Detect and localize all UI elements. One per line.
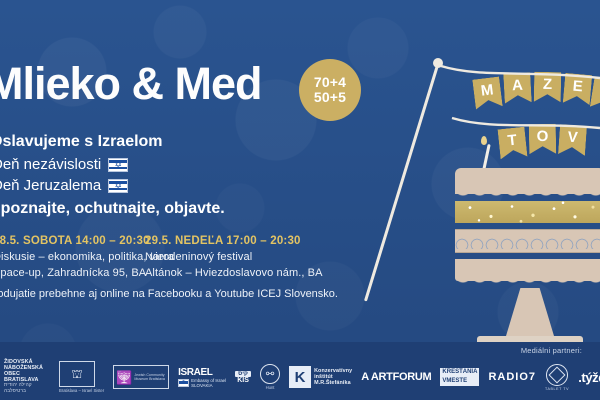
cake-tier-middle xyxy=(455,229,600,253)
cake-glitter-layer xyxy=(455,201,600,223)
online-stream-note: Podujatie prebehne aj online na Facebook… xyxy=(0,288,338,300)
cake-tier-bottom xyxy=(455,259,600,281)
event-description: Narodeninový festival xyxy=(145,251,323,263)
logo-tyzden: .týždeň xyxy=(578,370,600,385)
candle-flame-icon xyxy=(481,136,487,145)
badge-line-2: 50+5 xyxy=(314,90,346,105)
cake-tier-top xyxy=(455,168,600,194)
page-title: Mlieko & Med xyxy=(0,58,262,110)
tablet-tv-icon xyxy=(546,364,568,386)
harp-icon: ⚯ xyxy=(260,364,280,384)
bunting-flag: Z xyxy=(534,72,562,102)
logo-embassy-of-israel: ISRAEL ✡ Embassy of Israel SLOVAKIA xyxy=(178,367,226,388)
day-label-independence: Deň nezávislosti xyxy=(0,156,101,173)
bunting-flag: O xyxy=(529,124,557,154)
artforum-mark-icon: A xyxy=(361,371,369,383)
media-partners-label: Mediálni partneri: xyxy=(521,346,582,355)
badge-line-1: 70+4 xyxy=(314,75,346,90)
bunting-flag: M xyxy=(472,76,502,109)
bunting-pole xyxy=(364,62,440,302)
israel-flag-icon: ✡ xyxy=(108,158,128,172)
tagline: Spoznajte, ochutnajte, objavte. xyxy=(0,200,225,218)
bunting-flag: E xyxy=(563,73,593,105)
logo-radio7: RADIO7 xyxy=(488,371,536,383)
menorah-icon: 🕎 xyxy=(116,371,132,384)
cake-scallop xyxy=(455,274,600,288)
event-venue: Altánok – Hviezdoslavovo nám., BA xyxy=(145,267,323,279)
logo-artforum: A ARTFORUM xyxy=(361,371,431,383)
bunting-flag: A xyxy=(503,72,532,103)
anniversary-badge: 70+4 50+5 xyxy=(299,59,361,121)
sponsor-logo-row: ŽIDOVSKÁ NÁBOŽENSKÁ OBEC BRATISLAVA קהיל… xyxy=(0,358,600,396)
logo-zidovska-nabozenska-obec: ŽIDOVSKÁ NÁBOŽENSKÁ OBEC BRATISLAVA קהיל… xyxy=(4,359,50,395)
bunting-flag: T xyxy=(498,127,528,160)
poster-canvas: Mlieko & Med 70+4 50+5 Oslavujeme s Izra… xyxy=(0,0,600,400)
logo-harp: ⚯ Hunt xyxy=(260,364,280,390)
city-crest-icon: ⛫ xyxy=(59,361,95,387)
sponsor-footer: Mediálni partneri: ŽIDOVSKÁ NÁBOŽENSKÁ O… xyxy=(0,342,600,400)
day-label-jerusalem: Deň Jeruzalema xyxy=(0,177,101,194)
israel-flag-icon: ✡ xyxy=(108,179,128,193)
day-row-jerusalem: Deň Jeruzalema ✡ xyxy=(0,177,128,194)
candle-icon xyxy=(482,144,490,170)
ki-monogram-icon: K xyxy=(289,366,311,388)
cake-swirl-decoration xyxy=(455,233,600,249)
logo-bratislava-sister-city: ⛫ Bratislava – Israel Sister xyxy=(59,361,104,393)
bunting-flag: L xyxy=(590,77,600,111)
logo-konzervativny-institut: K Konzervatívny inštitút M.R.Štefánika xyxy=(289,366,352,388)
day-row-independence: Deň nezávislosti ✡ xyxy=(0,156,128,173)
cake-scallop xyxy=(455,187,600,201)
cake-stand-stem xyxy=(506,288,554,336)
logo-tablet-tv: TABLET TV xyxy=(545,364,569,391)
bunting-flag: V xyxy=(558,124,587,156)
celebrate-heading: Oslavujeme s Izraelom xyxy=(0,133,163,151)
logo-kis: קיס KIS xyxy=(235,371,251,384)
event-date: 29.5. NEDEĽA 17:00 – 20:30 xyxy=(145,235,323,247)
event-block-sunday: 29.5. NEDEĽA 17:00 – 20:30 Narodeninový … xyxy=(145,235,323,279)
logo-jewish-community-museum: 🕎 Jewish Community Museum Bratislava xyxy=(113,365,169,389)
israel-flag-icon: ✡ xyxy=(178,379,189,387)
birthday-cake-illustration xyxy=(455,168,600,345)
logo-krestania-vmeste: KRESŤANIA VMESTE xyxy=(440,368,479,386)
